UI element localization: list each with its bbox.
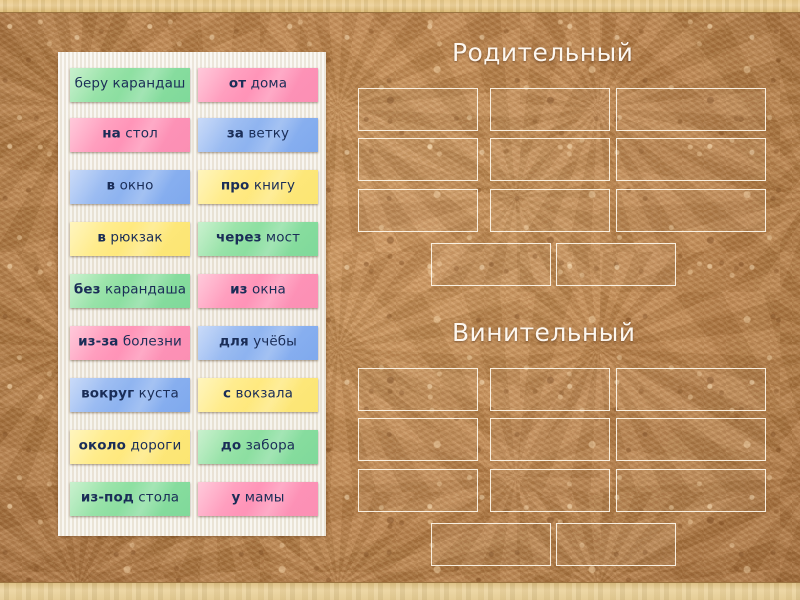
word-card-noun: рюкзак: [106, 230, 163, 246]
section-heading: Винительный: [452, 318, 635, 347]
word-card-noun: беру карандаш: [75, 76, 186, 92]
word-card[interactable]: в окно: [70, 170, 190, 204]
drop-zone[interactable]: [490, 138, 610, 181]
word-card-noun: стол: [121, 126, 158, 142]
drop-zone[interactable]: [431, 243, 551, 286]
drop-zone[interactable]: [358, 88, 478, 131]
word-card-preposition: за: [227, 126, 244, 142]
word-card-preposition: в: [107, 178, 116, 194]
drop-zone[interactable]: [616, 469, 766, 512]
word-card-preposition: через: [216, 230, 262, 246]
drop-zone[interactable]: [490, 88, 610, 131]
word-card-preposition: до: [221, 438, 241, 454]
word-card-noun: учёбы: [249, 334, 297, 350]
word-card-label: из-за болезни: [78, 336, 182, 350]
word-card-noun: окно: [115, 178, 153, 194]
word-card-label: на стол: [102, 128, 158, 142]
word-card-label: с вокзала: [223, 388, 293, 402]
word-card-label: за ветку: [227, 128, 289, 142]
drop-zone[interactable]: [616, 418, 766, 461]
word-card-preposition: из: [230, 282, 248, 298]
word-card[interactable]: у мамы: [198, 482, 318, 516]
word-card-preposition: с: [223, 386, 231, 402]
word-card-label: около дороги: [79, 440, 182, 454]
word-card-preposition: из-за: [78, 334, 118, 350]
word-card-noun: мост: [262, 230, 301, 246]
word-card-label: от дома: [229, 78, 287, 92]
word-card-noun: книгу: [249, 178, 295, 194]
word-card-noun: забора: [241, 438, 295, 454]
word-card[interactable]: про книгу: [198, 170, 318, 204]
word-card-label: в окно: [107, 180, 154, 194]
word-card-noun: дома: [246, 76, 287, 92]
word-card-label: в рюкзак: [97, 232, 162, 246]
word-card-label: через мост: [216, 232, 300, 246]
activity-board: беру карандашот домана столза веткув окн…: [0, 0, 800, 600]
word-card-preposition: на: [102, 126, 121, 142]
word-card-preposition: для: [219, 334, 249, 350]
wooden-frame-top: [0, 0, 800, 13]
word-card[interactable]: с вокзала: [198, 378, 318, 412]
word-card-noun: ветку: [244, 126, 289, 142]
word-card[interactable]: за ветку: [198, 118, 318, 152]
section-heading: Родительный: [452, 38, 633, 67]
word-card-noun: окна: [248, 282, 286, 298]
word-card-label: про книгу: [221, 180, 295, 194]
drop-zone[interactable]: [490, 469, 610, 512]
drop-zone[interactable]: [490, 368, 610, 411]
word-card[interactable]: из окна: [198, 274, 318, 308]
drop-zone[interactable]: [616, 368, 766, 411]
word-card[interactable]: вокруг куста: [70, 378, 190, 412]
word-card-label: из окна: [230, 284, 286, 298]
word-card[interactable]: до забора: [198, 430, 318, 464]
word-card-label: у мамы: [232, 492, 285, 506]
drop-zone[interactable]: [616, 138, 766, 181]
word-card[interactable]: через мост: [198, 222, 318, 256]
word-card-preposition: про: [221, 178, 250, 194]
drop-zone[interactable]: [358, 469, 478, 512]
drop-zone[interactable]: [556, 243, 676, 286]
drop-zone[interactable]: [358, 189, 478, 232]
word-card-label: без карандаша: [74, 284, 186, 298]
word-card-label: беру карандаш: [75, 78, 186, 92]
drop-zone[interactable]: [358, 368, 478, 411]
drop-zone[interactable]: [616, 88, 766, 131]
word-card-noun: мамы: [240, 490, 284, 506]
drop-zone[interactable]: [556, 523, 676, 566]
drop-zone[interactable]: [490, 418, 610, 461]
word-card-label: из-под стола: [81, 492, 179, 506]
word-card[interactable]: без карандаша: [70, 274, 190, 308]
word-card-list: беру карандашот домана столза веткув окн…: [58, 52, 326, 536]
word-card[interactable]: около дороги: [70, 430, 190, 464]
word-card-noun: стола: [134, 490, 179, 506]
word-card-preposition: у: [232, 490, 241, 506]
wooden-frame-bottom: [0, 582, 800, 600]
word-card-label: вокруг куста: [81, 388, 179, 402]
word-card-noun: дороги: [126, 438, 181, 454]
word-card-noun: вокзала: [231, 386, 293, 402]
word-card[interactable]: из-за болезни: [70, 326, 190, 360]
word-card-preposition: от: [229, 76, 246, 92]
word-card[interactable]: из-под стола: [70, 482, 190, 516]
word-card[interactable]: беру карандаш: [70, 68, 190, 102]
drop-zone[interactable]: [431, 523, 551, 566]
word-card-label: до забора: [221, 440, 295, 454]
word-card-panel: беру карандашот домана столза веткув окн…: [58, 52, 326, 536]
drop-zone[interactable]: [490, 189, 610, 232]
word-card[interactable]: для учёбы: [198, 326, 318, 360]
word-card[interactable]: в рюкзак: [70, 222, 190, 256]
word-card-noun: болезни: [118, 334, 181, 350]
word-card[interactable]: на стол: [70, 118, 190, 152]
word-card-preposition: без: [74, 282, 101, 298]
drop-zone[interactable]: [358, 138, 478, 181]
drop-zone[interactable]: [358, 418, 478, 461]
word-card-preposition: из-под: [81, 490, 134, 506]
drop-zone[interactable]: [616, 189, 766, 232]
word-card[interactable]: от дома: [198, 68, 318, 102]
word-card-preposition: в: [97, 230, 106, 246]
word-card-preposition: вокруг: [81, 386, 134, 402]
word-card-label: для учёбы: [219, 336, 297, 350]
word-card-noun: куста: [134, 386, 179, 402]
word-card-preposition: около: [79, 438, 126, 454]
word-card-noun: карандаша: [101, 282, 187, 298]
